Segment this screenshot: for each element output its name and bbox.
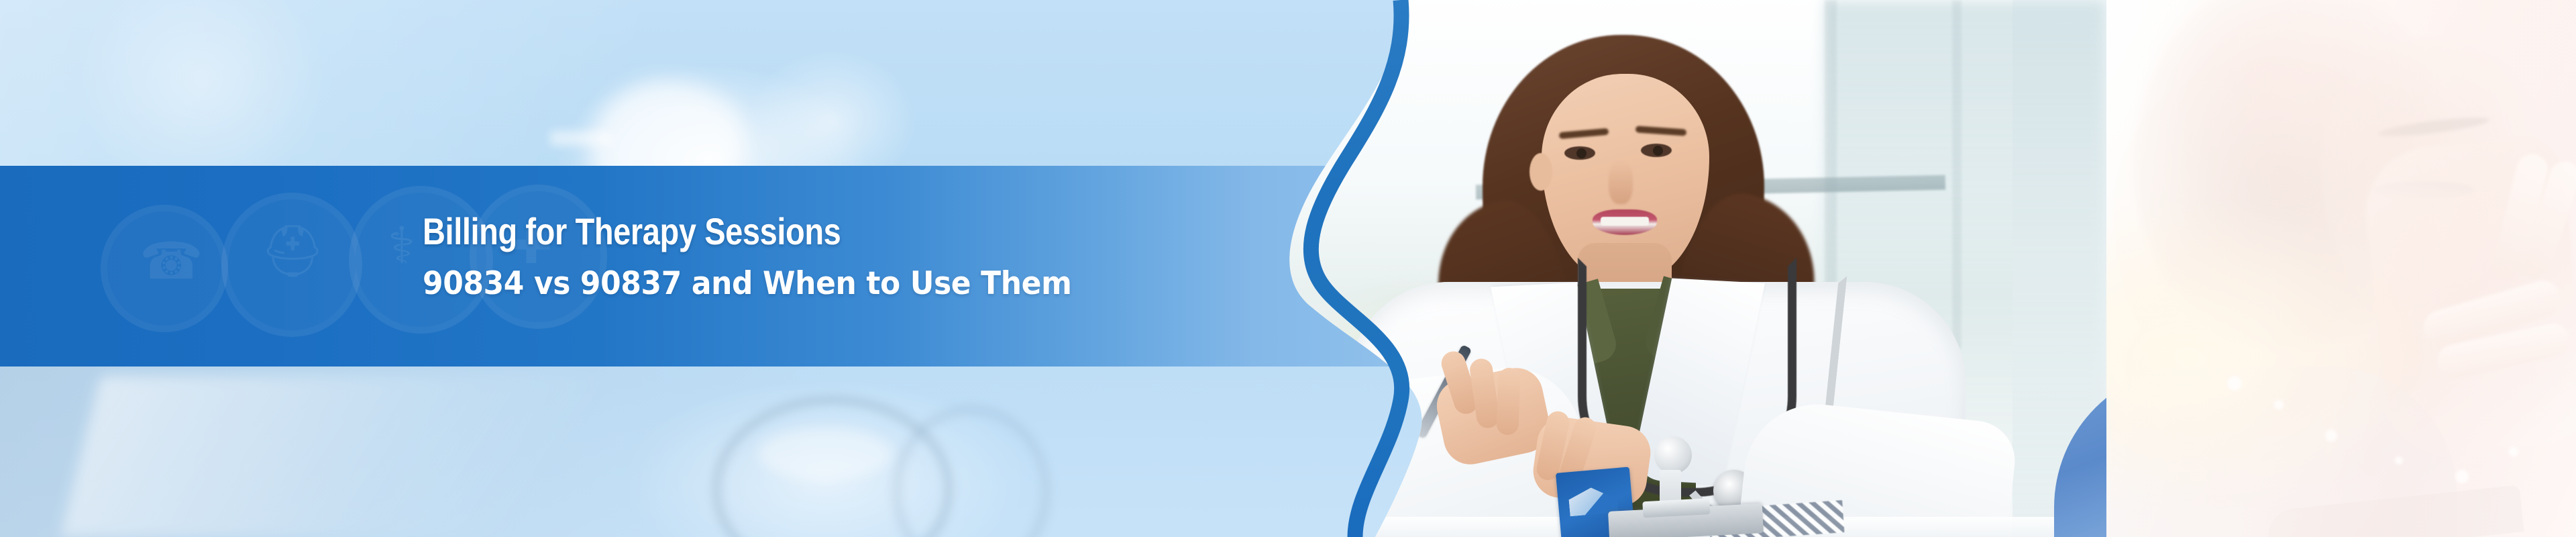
doctor-finger-3 [1496,367,1520,435]
phone-icon: ☎ [140,236,203,287]
badge-reel [1654,436,1692,474]
watermark-eyeglasses-icon [758,427,892,481]
page-title: Billing for Therapy Sessions [423,212,1132,251]
page-banner: ☎ ⛑ ⚕ ✚ Billing for Therapy Sessions 908… [0,0,2576,537]
doctor-pupil-left [1576,148,1587,158]
watermark-stethoscope-loop-icon [892,405,1051,537]
stethoscope-icon: ⚕ [388,221,415,272]
doctor-ear [1529,153,1552,191]
photo-panel [1275,0,2576,537]
doctor-teeth [1601,217,1649,226]
watermark-stethoscope-icon [711,395,954,537]
doctor-pupil-right [1653,146,1663,156]
overlay-thoughtful-woman [2106,0,2576,537]
watermark-desk-photo [0,367,1422,537]
page-subtitle: 90834 vs 90837 and When to Use Them [423,267,1213,300]
banner-headline-group: Billing for Therapy Sessions 90834 vs 90… [423,212,1268,301]
watermark-tablet-photo [0,0,1422,168]
watermark-laptop-icon [60,376,678,537]
overlay-white-veil [2106,0,2576,537]
doctor-nose [1609,161,1633,204]
ambulance-icon: ⛑ [260,226,325,277]
